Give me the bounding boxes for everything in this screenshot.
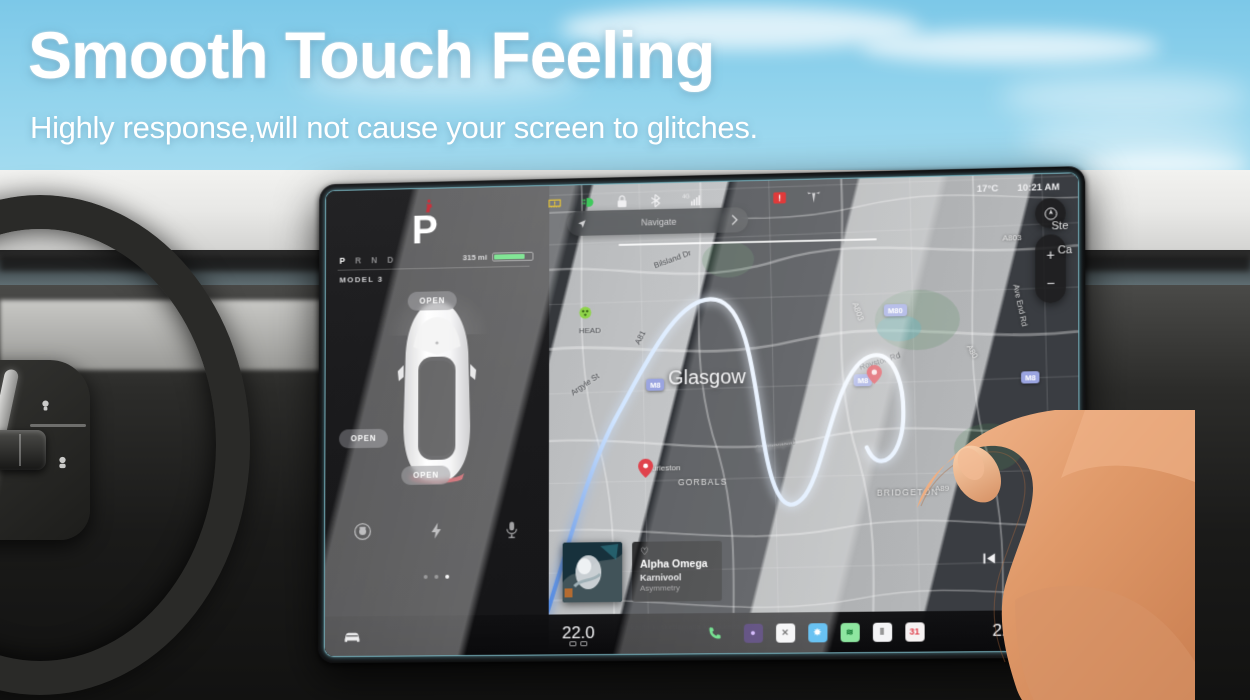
map-road-label: HEAD (579, 326, 601, 335)
bluetooth-icon (648, 193, 663, 208)
microphone-icon[interactable] (502, 520, 521, 539)
open-door-button[interactable]: OPEN (339, 429, 388, 449)
app-icon-toybox[interactable]: ✸ (808, 623, 827, 642)
page-subtitle: Highly response,will not cause your scre… (30, 112, 758, 143)
hand-touching-screen (865, 390, 1195, 700)
map-road-label: A803 (1002, 233, 1021, 242)
panel-divider (338, 266, 530, 271)
navigate-placeholder: Navigate (595, 215, 723, 228)
neighborhood-label-gorbals: GORBALS (678, 477, 727, 488)
prnd-selector[interactable]: P R N D (340, 255, 398, 266)
steering-scroll-wheel[interactable] (0, 430, 46, 470)
navigation-arrow-icon (577, 218, 587, 228)
map-route-shield: M8 (1021, 371, 1040, 383)
app-icon-spotify[interactable]: ≋ (840, 622, 859, 641)
steering-wheel-divider (30, 424, 86, 427)
tire-pressure-warning-icon (547, 195, 562, 210)
autopilot-button-icon[interactable] (55, 455, 70, 470)
car-front-icon[interactable] (342, 626, 362, 646)
city-route-shield: M8 (646, 379, 664, 391)
lock-icon (615, 193, 630, 208)
album-artwork[interactable] (563, 542, 623, 603)
battery-fill (494, 254, 525, 260)
app-icon-browser[interactable]: ● (743, 623, 762, 642)
media-track-info: ♡ Alpha Omega Karnivool Asymmetry (632, 541, 722, 601)
model-label: MODEL 3 (339, 275, 383, 285)
range-value: 315 mi (463, 253, 487, 262)
svg-text:4G: 4G (682, 194, 689, 200)
quick-controls-row (325, 520, 549, 542)
range-indicator: 315 mi (463, 252, 534, 262)
heart-icon[interactable]: ♡ (640, 546, 708, 558)
fog-light-icon (581, 194, 596, 209)
page-title: Smooth Touch Feeling (28, 22, 714, 88)
alert-warning-icon[interactable] (772, 190, 787, 205)
charger-map-pin[interactable] (579, 306, 592, 323)
signal-4g-icon: 4G (682, 192, 701, 207)
album-art-graphic (563, 542, 623, 603)
map-route-shield: M80 (884, 304, 907, 317)
camera-icon[interactable] (353, 522, 372, 541)
cloud (1000, 74, 1250, 120)
compass-icon (1043, 206, 1058, 221)
track-album: Asymmetry (640, 583, 708, 594)
map-poi-text: Ca (1058, 244, 1072, 256)
track-title: Alpha Omega (640, 557, 708, 572)
chevron-right-icon (731, 214, 738, 225)
app-icon-theater[interactable]: ✕ (776, 623, 795, 642)
open-frunk-button[interactable]: OPEN (401, 466, 450, 486)
vehicle-control-panel: P P R N D 315 mi MODEL 3 (325, 186, 550, 656)
page-dot-active[interactable] (445, 575, 449, 579)
page-indicator-dots[interactable] (325, 574, 549, 580)
driver-temperature-control[interactable]: 22.0 (562, 623, 595, 646)
voice-command-button-icon[interactable] (38, 398, 53, 413)
driver-temp-value: 22.0 (562, 623, 595, 642)
city-label: Glasgow (668, 366, 746, 390)
car-top-view-graphic[interactable] (396, 298, 479, 486)
battery-bar (492, 252, 533, 262)
page-dot[interactable] (434, 575, 438, 579)
tesla-logo-icon (806, 189, 821, 204)
page-dot[interactable] (424, 575, 428, 579)
open-trunk-button[interactable]: OPEN (408, 291, 457, 311)
screenshot-stage: P P R N D 315 mi MODEL 3 (0, 0, 1250, 700)
clock: 10:21 AM (1017, 182, 1059, 194)
map-poi-text: Ste (1051, 220, 1068, 232)
destination-map-pin[interactable] (867, 365, 882, 384)
current-location-pin (638, 459, 653, 478)
outside-temperature: 17°C (977, 183, 999, 195)
charging-bolt-icon[interactable] (427, 521, 446, 540)
track-artist: Karnivool (640, 572, 708, 584)
zoom-out-button[interactable]: − (1046, 276, 1054, 290)
zoom-in-button[interactable]: + (1046, 248, 1054, 262)
cloud (860, 30, 1160, 64)
seatbelt-warning-icon (422, 198, 437, 213)
dock-car-section[interactable] (325, 625, 549, 647)
phone-icon[interactable] (706, 626, 721, 641)
